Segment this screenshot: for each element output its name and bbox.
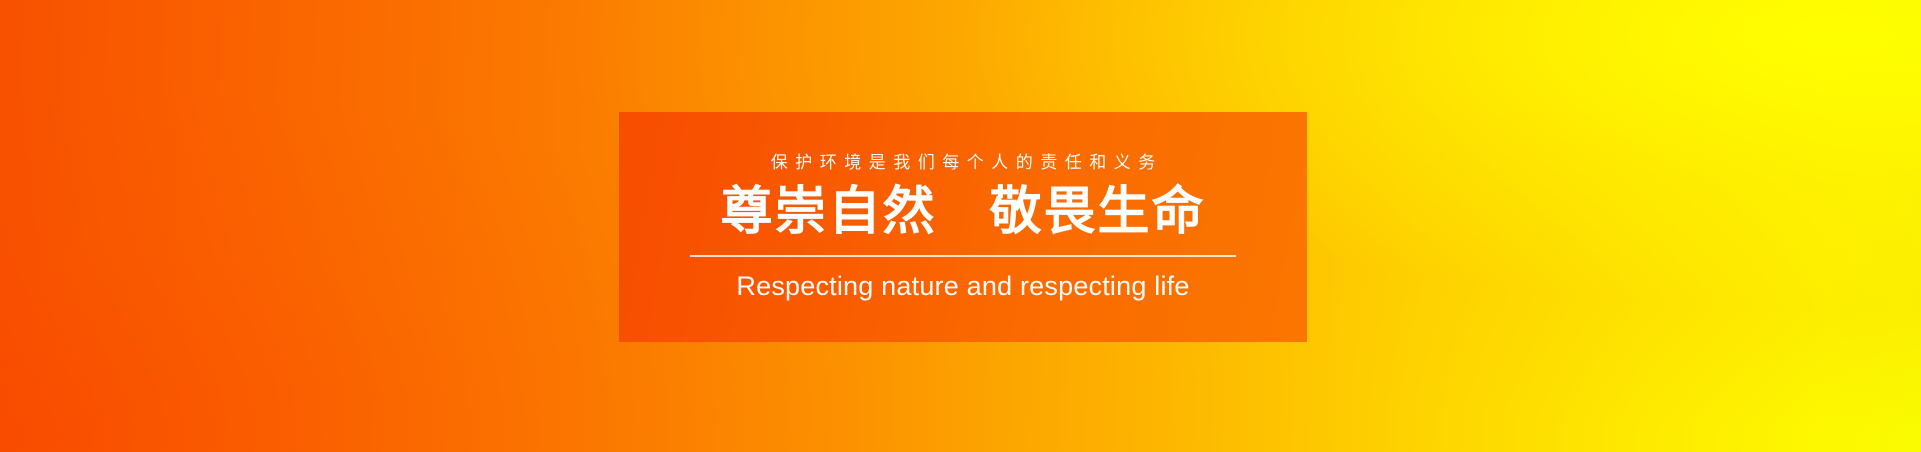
headline-segment-two: 敬畏生命 — [989, 183, 1205, 241]
message-panel: 保护环境是我们每个人的责任和义务 尊崇自然 敬畏生命 Respecting na… — [619, 112, 1307, 342]
promo-banner: 保护环境是我们每个人的责任和义务 尊崇自然 敬畏生命 Respecting na… — [0, 0, 1921, 452]
headline-segment-one: 尊崇自然 — [721, 183, 937, 241]
headline-divider-rule — [690, 255, 1236, 257]
panel-english-subline: Respecting nature and respecting life — [736, 273, 1189, 300]
panel-headline: 尊崇自然 敬畏生命 — [721, 185, 1206, 239]
panel-kicker-text: 保护环境是我们每个人的责任和义务 — [763, 154, 1163, 171]
